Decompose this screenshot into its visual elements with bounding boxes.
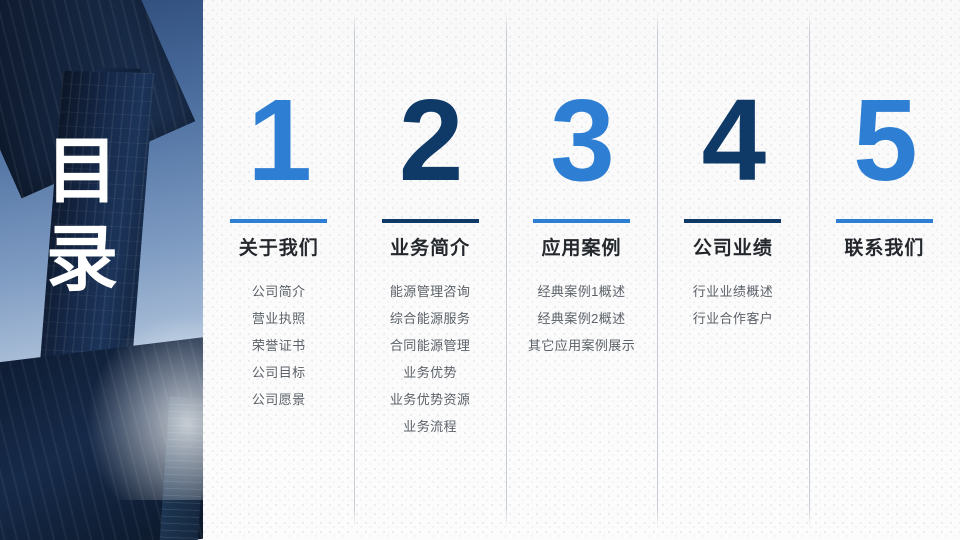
column-number-3: 3: [506, 0, 657, 198]
list-item[interactable]: 荣誉证书: [203, 332, 354, 359]
list-item[interactable]: 公司愿景: [203, 386, 354, 413]
column-items-2: 能源管理咨询 综合能源服务 合同能源管理 业务优势 业务优势资源 业务流程: [354, 278, 505, 440]
column-items-4: 行业业绩概述 行业合作客户: [657, 278, 808, 332]
column-title-3: 应用案例: [506, 237, 657, 261]
list-item[interactable]: 公司简介: [203, 278, 354, 305]
agenda-column-1[interactable]: 1 关于我们 公司简介 营业执照 荣誉证书 公司目标 公司愿景: [203, 0, 354, 540]
agenda-column-5[interactable]: 5 联系我们: [809, 0, 960, 540]
list-item[interactable]: 合同能源管理: [354, 332, 505, 359]
column-number-1: 1: [203, 0, 354, 198]
column-rule-3: [533, 219, 630, 223]
agenda-column-3[interactable]: 3 应用案例 经典案例1概述 经典案例2概述 其它应用案例展示: [506, 0, 657, 540]
page-title: 目 录: [46, 128, 146, 304]
list-item[interactable]: 经典案例2概述: [506, 305, 657, 332]
list-item[interactable]: 经典案例1概述: [506, 278, 657, 305]
agenda-slide: 目 录 1 关于我们 公司简介 营业执照 荣誉证书 公司目标 公司愿景 2 业务…: [0, 0, 960, 540]
agenda-columns: 1 关于我们 公司简介 营业执照 荣誉证书 公司目标 公司愿景 2 业务简介 能…: [203, 0, 960, 540]
column-number-5: 5: [809, 0, 960, 198]
column-number-4: 4: [657, 0, 808, 198]
skyscraper-photo: 目 录: [0, 0, 203, 540]
list-item[interactable]: 业务优势资源: [354, 386, 505, 413]
column-title-4: 公司业绩: [657, 237, 808, 261]
sun-haze: [83, 310, 203, 500]
column-rule-1: [230, 219, 327, 223]
column-items-3: 经典案例1概述 经典案例2概述 其它应用案例展示: [506, 278, 657, 359]
agenda-column-2[interactable]: 2 业务简介 能源管理咨询 综合能源服务 合同能源管理 业务优势 业务优势资源 …: [354, 0, 505, 540]
list-item[interactable]: 行业合作客户: [657, 305, 808, 332]
column-title-1: 关于我们: [203, 237, 354, 261]
column-rule-4: [684, 219, 781, 223]
column-rule-5: [836, 219, 933, 223]
list-item[interactable]: 营业执照: [203, 305, 354, 332]
column-rule-2: [382, 219, 479, 223]
list-item[interactable]: 业务流程: [354, 413, 505, 440]
column-title-5: 联系我们: [809, 237, 960, 261]
column-title-2: 业务简介: [354, 237, 505, 261]
column-items-1: 公司简介 营业执照 荣誉证书 公司目标 公司愿景: [203, 278, 354, 413]
list-item[interactable]: 综合能源服务: [354, 305, 505, 332]
list-item[interactable]: 行业业绩概述: [657, 278, 808, 305]
list-item[interactable]: 能源管理咨询: [354, 278, 505, 305]
list-item[interactable]: 业务优势: [354, 359, 505, 386]
column-number-2: 2: [354, 0, 505, 198]
list-item[interactable]: 公司目标: [203, 359, 354, 386]
list-item[interactable]: 其它应用案例展示: [506, 332, 657, 359]
agenda-column-4[interactable]: 4 公司业绩 行业业绩概述 行业合作客户: [657, 0, 808, 540]
